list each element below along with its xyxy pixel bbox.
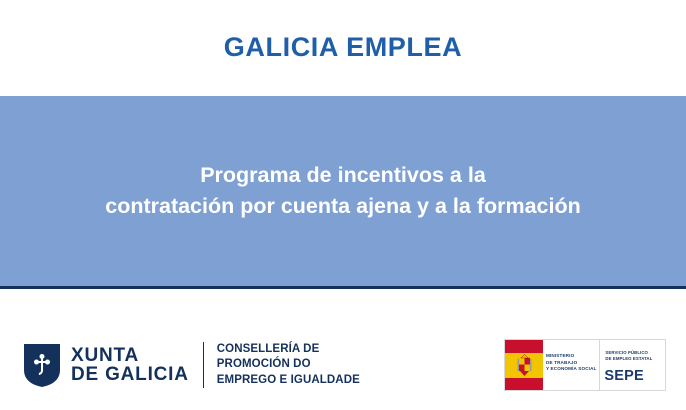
ministerio-text: MINISTERIO DE TRABAJO Y ECONOMÍA SOCIAL [546, 353, 598, 373]
gobierno-de-espana-logo: MINISTERIO DE TRABAJO Y ECONOMÍA SOCIAL … [504, 339, 666, 391]
flag-stripe-bottom [505, 378, 543, 391]
conselleria-text: CONSELLERÍA DE PROMOCIÓN DO EMPREGO E IG… [217, 342, 360, 388]
xunta-line2: DE GALICIA [71, 365, 189, 384]
xunta-shield-icon [22, 342, 62, 388]
banner-blue-band: Programa de incentivos a la contratación… [0, 96, 686, 286]
spain-flag-icon [505, 340, 543, 390]
footer: XUNTA DE GALICIA CONSELLERÍA DE PROMOCIÓ… [0, 289, 686, 410]
sepe-description: SERVICIO PÚBLICO DE EMPLEO ESTATAL [605, 350, 652, 363]
xunta-de-galicia-logo: XUNTA DE GALICIA CONSELLERÍA DE PROMOCIÓ… [22, 341, 360, 389]
logo-separator [203, 342, 204, 388]
conselleria-line1: CONSELLERÍA DE [217, 342, 360, 357]
sepe-block: SERVICIO PÚBLICO DE EMPLEO ESTATAL SEPE [599, 340, 665, 390]
conselleria-line2: PROMOCIÓN DO [217, 357, 360, 372]
page-title: GALICIA EMPLEA [224, 33, 462, 63]
sepe-wordmark: SEPE [604, 369, 644, 384]
slide-page: GALICIA EMPLEA Programa de incentivos a … [0, 0, 686, 410]
flag-stripe-top [505, 340, 543, 353]
xunta-line1: XUNTA [71, 346, 189, 365]
ministerio-line1: MINISTERIO [546, 353, 598, 360]
sepe-line2: DE EMPLEO ESTATAL [605, 356, 652, 362]
conselleria-line3: EMPREGO E IGUALDADE [217, 373, 360, 388]
banner-subtitle-line1: Programa de incentivos a la [105, 160, 581, 191]
ministerio-line3: Y ECONOMÍA SOCIAL [546, 366, 598, 373]
title-area: GALICIA EMPLEA [0, 0, 686, 96]
spain-coat-of-arms-icon [516, 353, 533, 377]
ministerio-block: MINISTERIO DE TRABAJO Y ECONOMÍA SOCIAL [505, 340, 599, 390]
xunta-wordmark: XUNTA DE GALICIA [71, 346, 189, 385]
banner-subtitle-line2: contratación por cuenta ajena y a la for… [105, 191, 581, 222]
banner-subtitle: Programa de incentivos a la contratación… [79, 160, 607, 221]
